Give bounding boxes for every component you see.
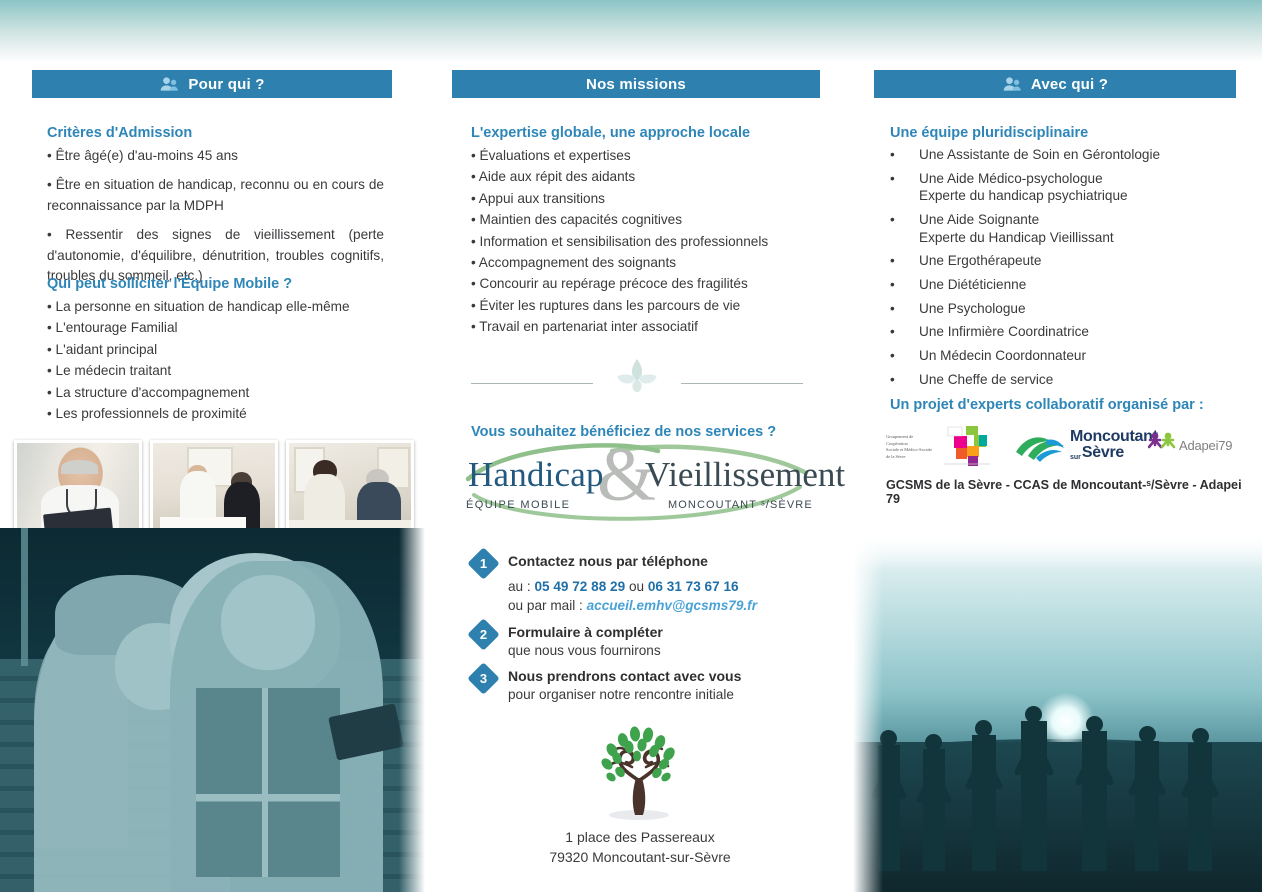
logo-word-vieillissement: Vieillissement — [645, 455, 845, 495]
gcsms-tiny-line-3: de la Sèvre — [886, 454, 934, 461]
adapei79-logo: Adapei79 — [1148, 424, 1240, 470]
section-header-label: Pour qui ? — [188, 76, 264, 93]
bullet: • — [890, 211, 919, 246]
photo-doctor-with-chart — [14, 440, 142, 538]
list-item: • L'aidant principal — [47, 340, 387, 360]
lotus-ornament-icon — [604, 355, 670, 397]
list-item-main: Une Cheffe de service — [919, 372, 1053, 387]
sevre-word: Sèvre — [1082, 445, 1124, 461]
step-badge-3: 3 — [467, 663, 500, 696]
list-item: •Une Infirmière Coordinatrice — [890, 323, 1250, 341]
people-icon — [1002, 76, 1022, 92]
list-item: •Une Ergothérapeute — [890, 252, 1250, 270]
address-line-2: 79320 Moncoutant-sur-Sèvre — [440, 847, 840, 867]
heading-qui-peut-solliciter: Qui peut solliciter l'Équipe Mobile ? — [47, 275, 387, 293]
silhouette-figure — [1188, 743, 1212, 871]
gcsms-tiny-line-2: Sociale et Médico-Sociale — [886, 447, 934, 454]
list-item: • Accompagnement des soignants — [471, 253, 821, 273]
logo-subtitle-equipe-mobile: ÉQUIPE MOBILE — [466, 499, 570, 511]
gcsms-puzzle-logo: Groupement de Coopération Sociale et Méd… — [886, 424, 1001, 470]
heading-partners: Un projet d'experts collaboratif organis… — [890, 396, 1250, 414]
list-item: • L'entourage Familial — [47, 318, 387, 338]
step-subtitle: que nous vous fournirons — [508, 641, 820, 660]
gcsms-tiny-line-1: Groupement de Coopération — [886, 434, 934, 447]
list-item: • Être âgé(e) d'au-moins 45 ans — [47, 146, 384, 166]
partner-logos: Groupement de Coopération Sociale et Méd… — [886, 424, 1236, 470]
list-item: • La personne en situation de handicap e… — [47, 297, 387, 317]
logo-word-handicap: Handicap — [468, 455, 604, 495]
address-block: 1 place des Passereaux 79320 Moncoutant-… — [440, 827, 840, 868]
people-icon — [159, 76, 179, 92]
lotus-ornament-divider — [471, 355, 803, 397]
moncoutant-sur-sevre-logo: Moncoutant sur Sèvre — [1014, 424, 1139, 470]
list-item: • Le médecin traitant — [47, 361, 387, 381]
email-link[interactable]: accueil.emhv@gcsms79.fr — [587, 598, 757, 613]
phone-prefix: au : — [508, 579, 534, 594]
list-item: • Appui aux transitions — [471, 189, 821, 209]
photo-group-raised-arms-sunset — [853, 536, 1262, 892]
step-item-3: 3 Nous prendrons contact avec vous pour … — [470, 667, 820, 704]
section-header-label: Nos missions — [586, 76, 686, 93]
silhouette-figure — [1021, 721, 1047, 871]
list-item: • Maintien des capacités cognitives — [471, 210, 821, 230]
partners-caption: GCSMS de la Sèvre - CCAS de Moncoutant-ˢ… — [886, 478, 1246, 506]
moncoutant-sup: sur — [1070, 454, 1081, 461]
photo-caregiver-and-elder — [286, 440, 414, 538]
list-item: • Évaluations et expertises — [471, 146, 821, 166]
list-item: •Une Diététicienne — [890, 276, 1250, 294]
bullet: • — [890, 323, 919, 341]
moncoutant-swoosh-icon — [1014, 430, 1066, 464]
list-item: • Aide aux répit des aidants — [471, 167, 821, 187]
section-header-pour-qui: Pour qui ? — [32, 70, 392, 98]
bullet: • — [890, 347, 919, 365]
mail-prefix: ou par mail : — [508, 598, 587, 613]
tree-logo-icon — [574, 722, 704, 822]
silhouette-figure — [972, 735, 996, 871]
list-item: • Information et sensibilisation des pro… — [471, 232, 821, 252]
bullet: • — [890, 146, 919, 164]
section-header-avec-qui: Avec qui ? — [874, 70, 1236, 98]
phone-number-2[interactable]: 06 31 73 67 16 — [648, 579, 739, 594]
list-nos-missions: • Évaluations et expertises • Aide aux r… — [471, 146, 821, 339]
brochure-page: Pour qui ? Critères d'Admission • Être â… — [0, 0, 1262, 892]
logo-subtitle-moncoutant: MONCOUTANT ˢ/SÈVRE — [668, 499, 813, 511]
list-item-sub: Experte du Handicap Vieillissant — [919, 229, 1250, 247]
heading-equipe-pluridisciplinaire: Une équipe pluridisciplinaire — [890, 124, 1240, 142]
list-item: •Un Médecin Coordonnateur — [890, 347, 1250, 365]
step-badge-1: 1 — [467, 547, 500, 580]
list-item-main: Un Médecin Coordonnateur — [919, 348, 1086, 363]
list-item: •Une Psychologue — [890, 300, 1250, 318]
list-item-main: Une Aide Médico-psychologue — [919, 171, 1103, 186]
contact-steps-list: 1 Contactez nous par téléphone au : 05 4… — [470, 552, 820, 712]
list-item: • Concourir au repérage précoce des frag… — [471, 274, 821, 294]
list-item-main: Une Ergothérapeute — [919, 253, 1041, 268]
bullet: • — [890, 170, 919, 205]
list-item: •Une Aide SoignanteExperte du Handicap V… — [890, 211, 1250, 246]
list-item: • Travail en partenariat inter associati… — [471, 317, 821, 337]
step-title: Formulaire à compléter — [508, 623, 820, 641]
step-number: 3 — [472, 667, 495, 690]
step-number: 1 — [472, 552, 495, 575]
step-number: 2 — [472, 623, 495, 646]
heading-criteres-admission: Critères d'Admission — [47, 124, 387, 142]
list-equipe-pluridisciplinaire: •Une Assistante de Soin en Gérontologie … — [890, 146, 1250, 394]
logo-word-v: V — [645, 455, 668, 494]
bullet: • — [890, 300, 919, 318]
section-header-nos-missions: Nos missions — [452, 70, 820, 98]
step-phone-line: au : 05 49 72 88 29 ou 06 31 73 67 16 — [508, 577, 820, 596]
moncoutant-word: Moncoutant — [1070, 429, 1158, 445]
step-item-2: 2 Formulaire à compléter que nous vous f… — [470, 623, 820, 660]
logo-word-ieillissement: ieillissement — [668, 455, 845, 494]
list-item-sub: Experte du handicap psychiatrique — [919, 187, 1250, 205]
address-line-1: 1 place des Passereaux — [440, 827, 840, 847]
gcsms-tiny-text: Groupement de Coopération Sociale et Méd… — [886, 434, 934, 460]
step-title: Contactez nous par téléphone — [508, 552, 820, 570]
list-criteres-admission: • Être âgé(e) d'au-moins 45 ans • Être e… — [47, 146, 384, 287]
list-item-main: Une Aide Soignante — [919, 212, 1039, 227]
list-item: •Une Assistante de Soin en Gérontologie — [890, 146, 1250, 164]
photo-collage — [14, 440, 414, 538]
silhouette-figure — [1135, 741, 1159, 871]
list-item-main: Une Assistante de Soin en Gérontologie — [919, 147, 1160, 162]
list-item: • Être en situation de handicap, reconnu… — [47, 175, 384, 216]
handicap-vieillissement-logo: & Handicap Vieillissement ÉQUIPE MOBILE … — [462, 443, 814, 527]
list-qui-peut-solliciter: • La personne en situation de handicap e… — [47, 297, 387, 425]
list-item: • Les professionnels de proximité — [47, 404, 387, 424]
silhouette-figure — [1082, 731, 1107, 871]
list-item-main: Une Infirmière Coordinatrice — [919, 324, 1089, 339]
bullet: • — [890, 276, 919, 294]
photo-doctor-and-patient — [150, 440, 278, 538]
section-header-label: Avec qui ? — [1031, 76, 1108, 93]
photo-two-women-with-tablet — [0, 528, 425, 892]
puzzle-icon — [936, 424, 998, 470]
list-item: •Une Cheffe de service — [890, 371, 1250, 389]
step-badge-2: 2 — [467, 618, 500, 651]
phone-number-1[interactable]: 05 49 72 88 29 — [534, 579, 625, 594]
column-pour-qui: Pour qui ? Critères d'Admission • Être â… — [0, 0, 428, 892]
step-item-1: 1 Contactez nous par téléphone au : 05 4… — [470, 552, 820, 616]
adapei-figures-icon — [1148, 432, 1178, 456]
step-title: Nous prendrons contact avec vous — [508, 667, 820, 685]
adapei-word: Adapei79 — [1179, 438, 1232, 453]
list-item-main: Une Psychologue — [919, 301, 1026, 316]
list-item: •Une Aide Médico-psychologueExperte du h… — [890, 170, 1250, 205]
step-mail-line: ou par mail : accueil.emhv@gcsms79.fr — [508, 596, 820, 615]
bullet: • — [890, 252, 919, 270]
silhouette-figure — [923, 749, 945, 871]
list-item: • La structure d'accompagnement — [47, 383, 387, 403]
step-subtitle: pour organiser notre rencontre initiale — [508, 685, 820, 704]
heading-expertise-globale: L'expertise globale, une approche locale — [471, 124, 816, 142]
list-item-main: Une Diététicienne — [919, 277, 1026, 292]
list-item: • Éviter les ruptures dans les parcours … — [471, 296, 821, 316]
phone-separator: ou — [625, 579, 648, 594]
bullet: • — [890, 371, 919, 389]
